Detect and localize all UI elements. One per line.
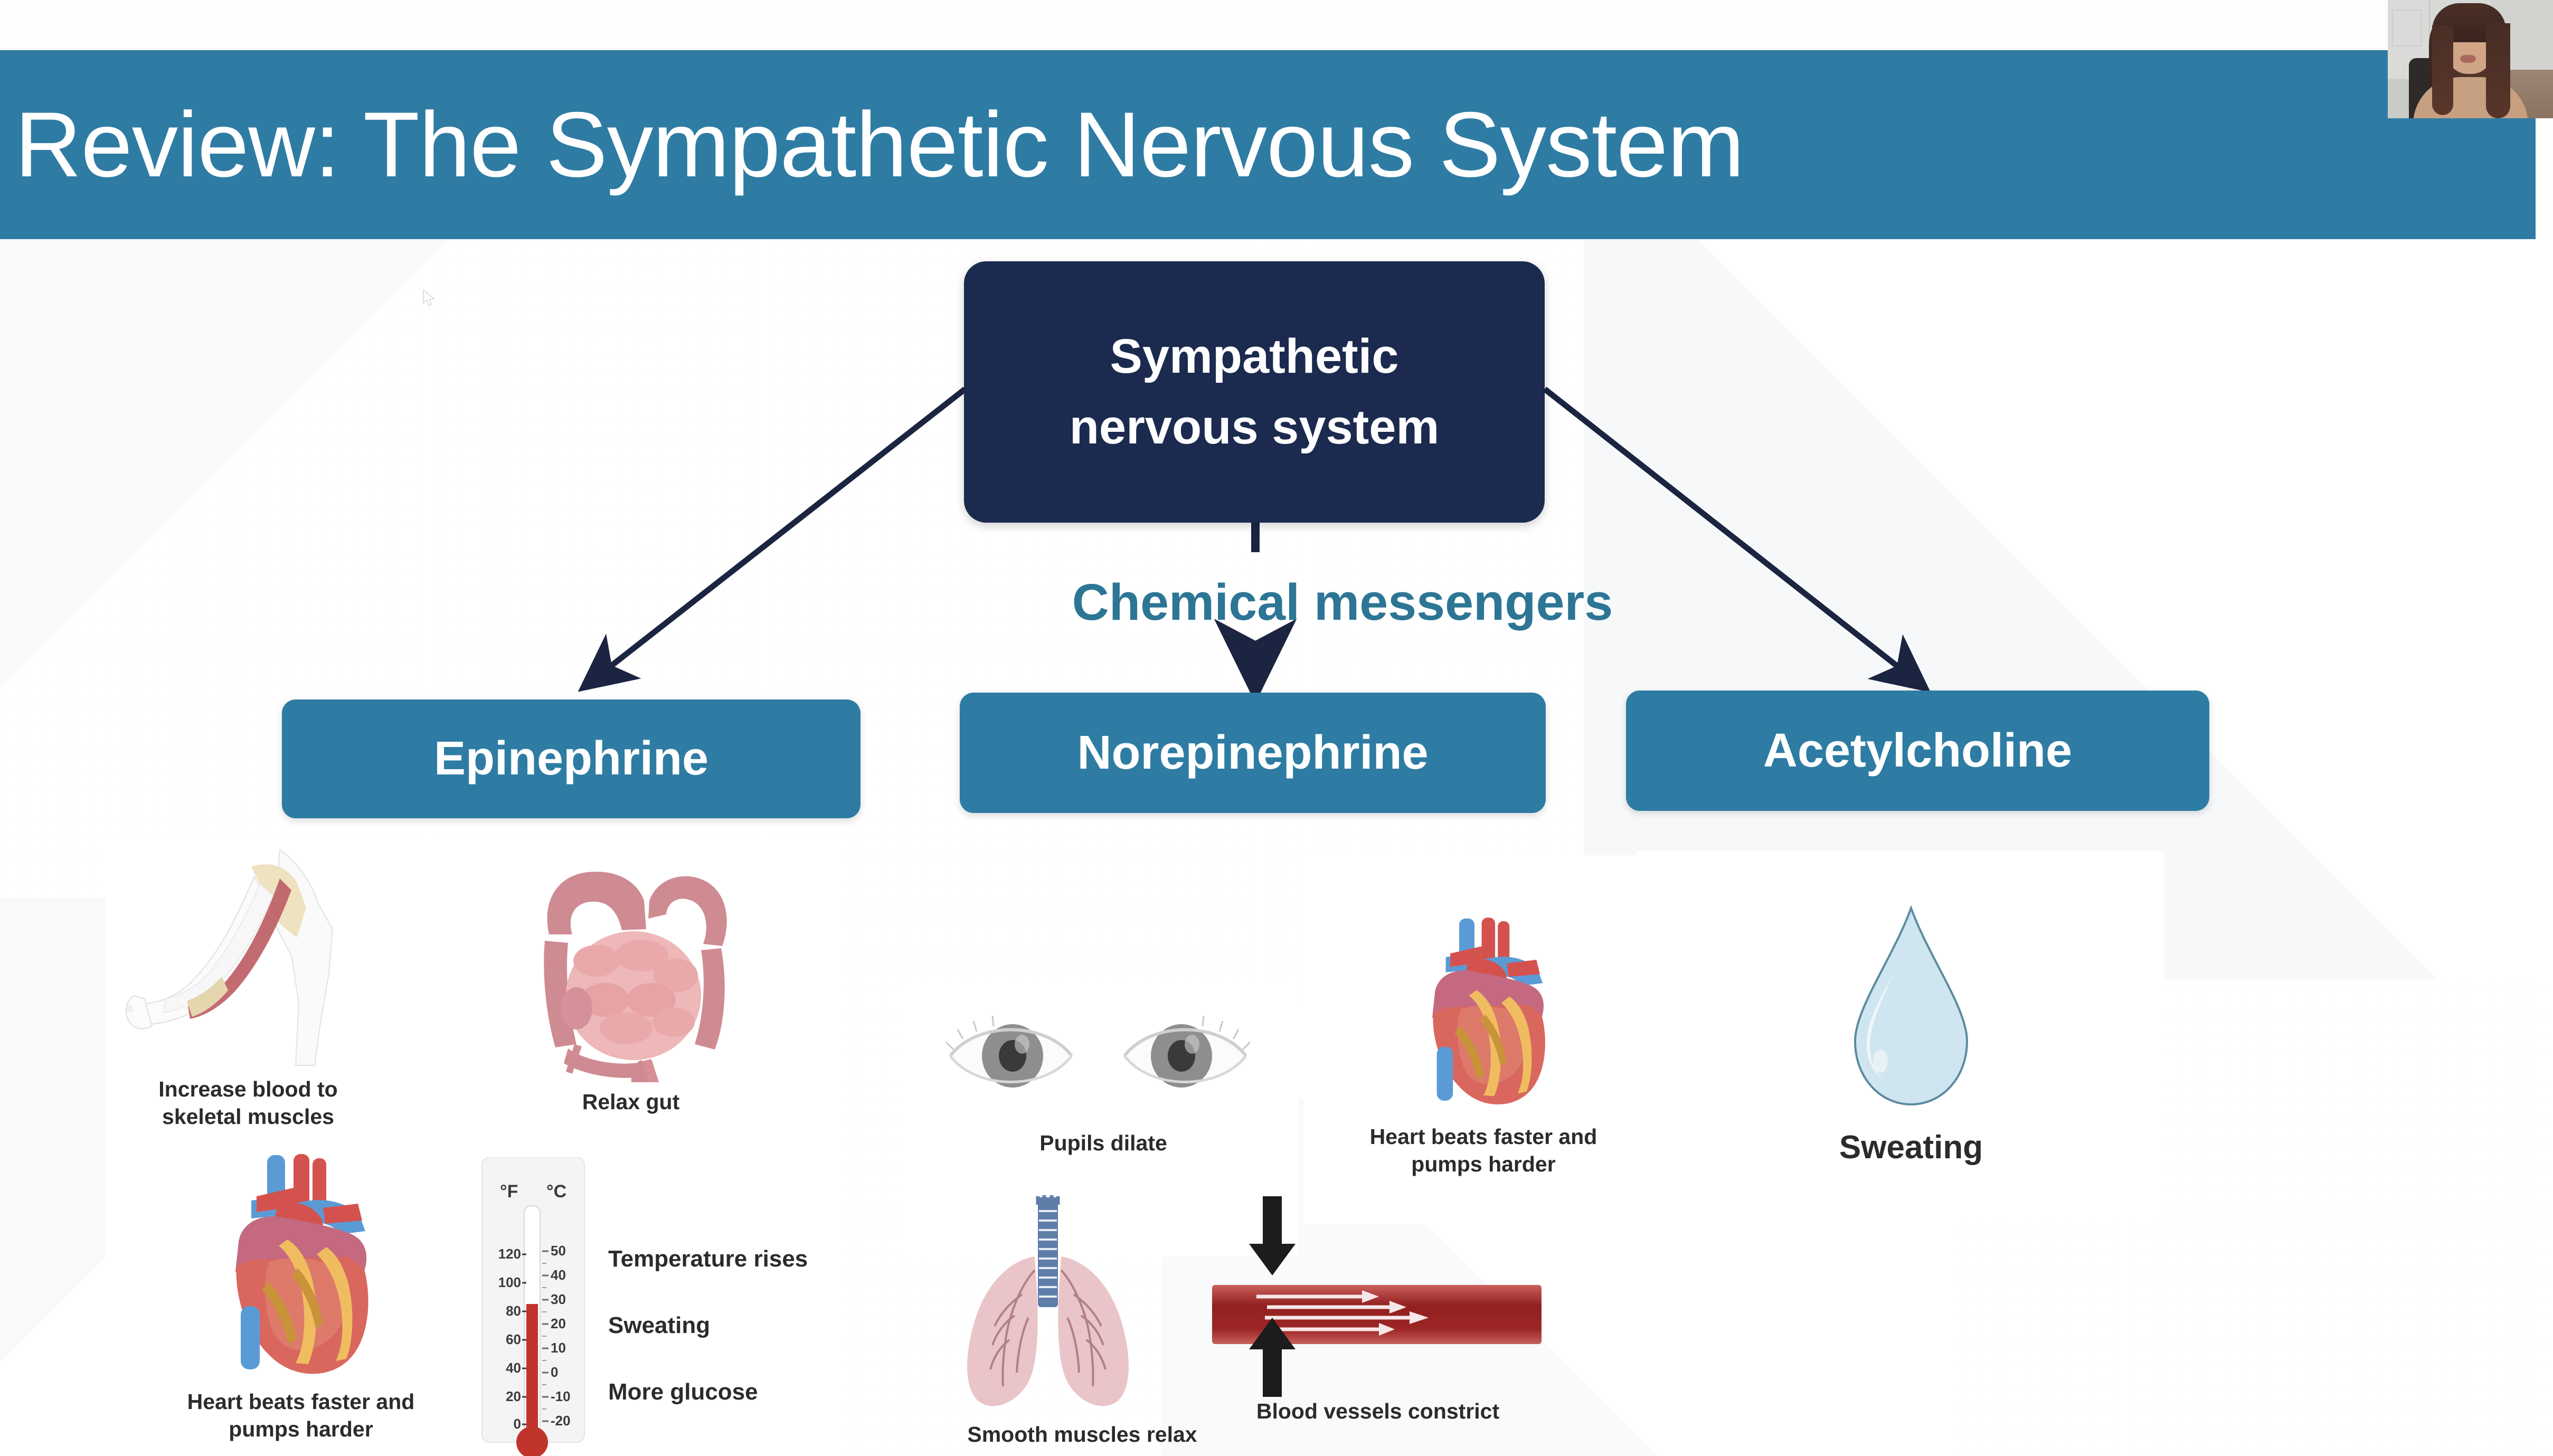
node-norepinephrine-label: Norepinephrine <box>1077 726 1428 780</box>
svg-text:60: 60 <box>506 1331 521 1347</box>
node-acetylcholine[interactable]: Acetylcholine <box>1626 691 2209 811</box>
svg-text:50: 50 <box>551 1243 566 1259</box>
caption-blood-vessels-constrict: Blood vessels constrict <box>1183 1398 1573 1425</box>
caption-heart-beats-faster-epinephrine: Heart beats faster and pumps harder <box>137 1388 465 1443</box>
central-node-sympathetic-nervous-system[interactable]: Sympathetic nervous system <box>964 261 1545 523</box>
central-node-line-2: nervous system <box>1070 392 1440 462</box>
thermometer-icon: °F °C 12010080 604020 0 504030 20100 -10… <box>478 1157 589 1456</box>
svg-text:°F: °F <box>500 1181 518 1202</box>
svg-text:10: 10 <box>551 1340 566 1356</box>
svg-text:80: 80 <box>506 1303 521 1319</box>
blood-vessel-icon <box>1188 1188 1568 1404</box>
svg-text:20: 20 <box>506 1388 521 1404</box>
svg-text:40: 40 <box>506 1360 521 1376</box>
slide-canvas: Review: The Sympathetic Nervous System S… <box>0 0 2553 1456</box>
effect-sweating-epinephrine: Sweating <box>608 1312 808 1339</box>
chemical-messengers-label: Chemical messengers <box>968 573 1717 632</box>
intestines-icon <box>517 850 744 1082</box>
arm-muscle-icon <box>121 845 459 1066</box>
webcam-video-overlay[interactable] <box>2388 0 2553 118</box>
heart-icon <box>190 1146 401 1388</box>
svg-text:-10: -10 <box>551 1388 571 1404</box>
webcam-presenter-hair-strand-left <box>2432 25 2453 115</box>
node-epinephrine-label: Epinephrine <box>434 732 708 786</box>
eyes-icon <box>945 1003 1262 1109</box>
mouse-cursor-icon <box>422 289 436 307</box>
node-acetylcholine-label: Acetylcholine <box>1763 724 2072 778</box>
heart-icon <box>1394 908 1573 1119</box>
node-epinephrine[interactable]: Epinephrine <box>282 699 861 818</box>
svg-text:100: 100 <box>498 1274 521 1290</box>
svg-text:0: 0 <box>551 1364 558 1380</box>
caption-pupils-dilate: Pupils dilate <box>945 1130 1262 1157</box>
lungs-icon <box>929 1193 1167 1415</box>
caption-smooth-muscles-relax: Smooth muscles relax <box>913 1421 1251 1449</box>
caption-sweating-acetylcholine: Sweating <box>1784 1127 2038 1168</box>
webcam-presenter-hair-strand-right <box>2486 23 2510 118</box>
central-node-line-1: Sympathetic <box>1110 322 1398 392</box>
water-drop-icon <box>1842 903 1980 1114</box>
svg-text:0: 0 <box>514 1416 521 1432</box>
webcam-presenter-mouth <box>2460 55 2476 63</box>
svg-text:-20: -20 <box>551 1413 571 1429</box>
page-title: Review: The Sympathetic Nervous System <box>0 99 1744 191</box>
svg-text:°C: °C <box>546 1181 566 1202</box>
effect-temperature-rises: Temperature rises <box>608 1246 808 1272</box>
caption-relax-gut: Relax gut <box>517 1089 744 1116</box>
svg-text:20: 20 <box>551 1316 566 1331</box>
effect-more-glucose: More glucose <box>608 1379 808 1405</box>
svg-text:40: 40 <box>551 1267 566 1283</box>
caption-increase-blood-to-skeletal-muscles: Increase blood to skeletal muscles <box>106 1076 391 1130</box>
svg-text:30: 30 <box>551 1291 566 1307</box>
caption-heart-beats-faster-norepinephrine: Heart beats faster and pumps harder <box>1304 1123 1663 1178</box>
node-norepinephrine[interactable]: Norepinephrine <box>960 693 1546 813</box>
svg-text:120: 120 <box>498 1246 521 1262</box>
thermometer-effects-list: Temperature rises Sweating More glucose <box>608 1246 808 1445</box>
slide-title-banner: Review: The Sympathetic Nervous System <box>0 50 2536 239</box>
